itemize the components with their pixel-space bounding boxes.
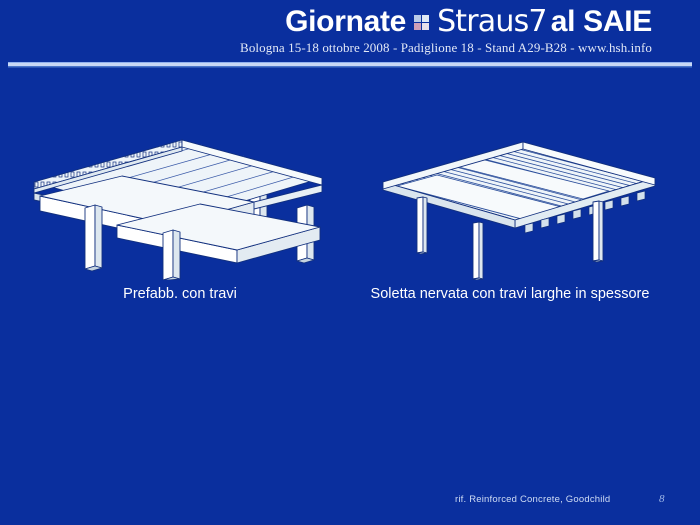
header-title-giornate: Giornate: [285, 6, 406, 38]
column: [473, 222, 483, 280]
header-title: Giornate Straus7 al SAIE: [285, 6, 652, 38]
page-number: 8: [659, 493, 665, 505]
slide-canvas: Giornate Straus7 al SAIE Bologna 15-18 o…: [0, 0, 700, 525]
figure-left-caption: Prefabb. con travi: [30, 285, 330, 304]
header-divider-rule-shadow: [8, 67, 692, 68]
column: [417, 197, 427, 254]
column: [163, 230, 180, 280]
reference-note: rif. Reinforced Concrete, Goodchild: [455, 494, 610, 505]
figure-right-caption: Soletta nervata con travi larghe in spes…: [360, 285, 660, 304]
column: [593, 201, 603, 262]
column: [85, 205, 102, 271]
straus7-logo-icon: [414, 15, 431, 32]
header-title-straus7: Straus7: [437, 6, 547, 38]
precast-slab-with-beams-diagram: [22, 130, 342, 280]
header-title-al-saie: al SAIE: [551, 6, 652, 38]
slide-header: Giornate Straus7 al SAIE Bologna 15-18 o…: [0, 0, 700, 66]
header-subtitle: Bologna 15-18 ottobre 2008 - Padiglione …: [240, 40, 652, 56]
ribbed-slab-with-wide-beams-diagram: [355, 130, 675, 280]
